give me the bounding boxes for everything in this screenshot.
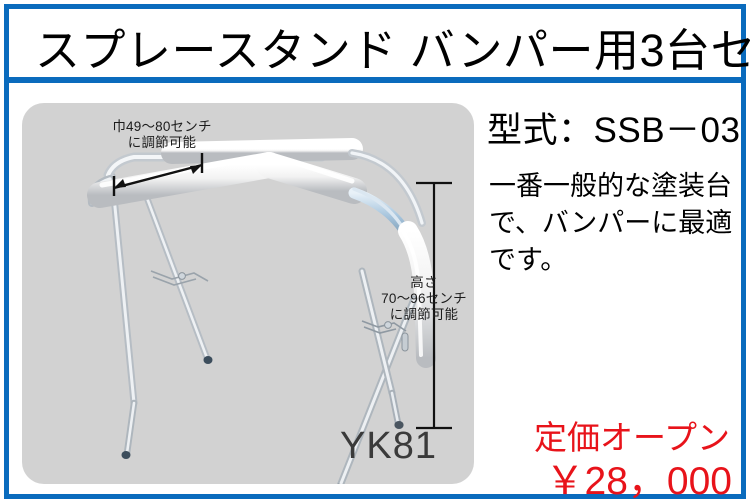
width-annotation: 巾49〜80センチ に調節可能	[82, 119, 242, 151]
height-annotation-line2: 70〜96センチ	[374, 291, 474, 307]
height-annotation-line1: 高さ	[374, 275, 474, 291]
product-ad-page: スプレースタンド バンパー用3台セット	[0, 0, 750, 503]
width-annotation-line1: 巾49〜80センチ	[82, 119, 242, 135]
height-annotation-line3: に調節可能	[374, 307, 474, 323]
model-number: 型式：SSB－03	[487, 102, 740, 153]
height-annotation: 高さ 70〜96センチ に調節可能	[374, 275, 474, 323]
page-title: スプレースタンド バンパー用3台セット	[35, 21, 741, 81]
price-value: ￥28，000	[546, 450, 732, 503]
part-number-label: YK81	[340, 425, 437, 468]
product-description: 一番一般的な塗装台で、バンパーに最適です。	[489, 168, 741, 279]
header-divider	[9, 77, 741, 83]
product-photo-panel: 巾49〜80センチ に調節可能 高さ 70〜96センチ に調節可能 YK81	[22, 103, 474, 484]
header-band: スプレースタンド バンパー用3台セット	[9, 9, 741, 79]
width-annotation-line2: に調節可能	[82, 135, 242, 151]
